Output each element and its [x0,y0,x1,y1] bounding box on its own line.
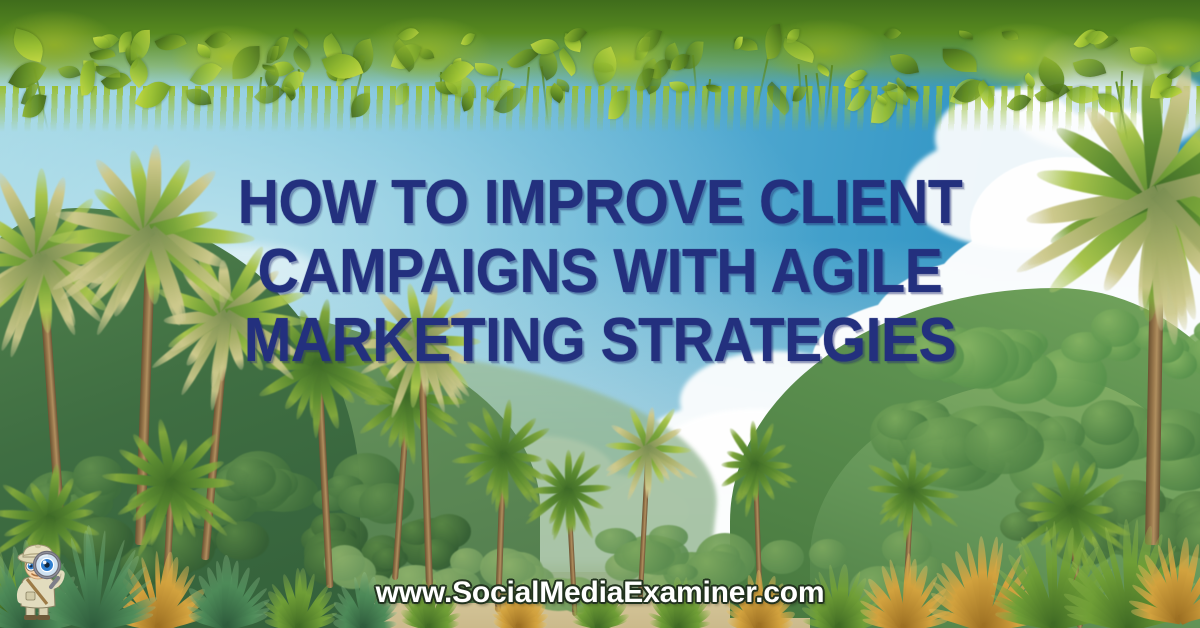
foreground-fern [343,576,387,628]
foreground-fern [737,574,783,628]
foreground-fern [579,582,621,628]
foreground-fern [876,558,934,628]
foreground-fern [200,560,256,626]
bush-cluster [904,334,964,380]
blog-banner: HOW TO IMPROVE CLIENT CAMPAIGNS WITH AGI… [0,0,1200,628]
palm-crown [527,454,610,518]
palm-tree [359,288,490,602]
foreground-fern [409,580,451,628]
palm-tree [1032,93,1200,547]
site-logo-mascot[interactable] [6,542,72,620]
palm-crown [112,431,232,524]
foreground-fern [814,566,866,628]
palm-crown [868,453,955,520]
palm-crown [359,288,482,382]
foreground-fern [275,570,325,628]
foreground-fern [658,578,702,628]
explorer-mascot-icon [6,542,72,620]
palm-crown [63,156,239,291]
palm-crown [605,410,692,477]
bush-cluster [964,418,1044,475]
foreground-fern [500,584,540,628]
palm-crown [716,431,794,491]
foreground-fern [1149,540,1200,620]
